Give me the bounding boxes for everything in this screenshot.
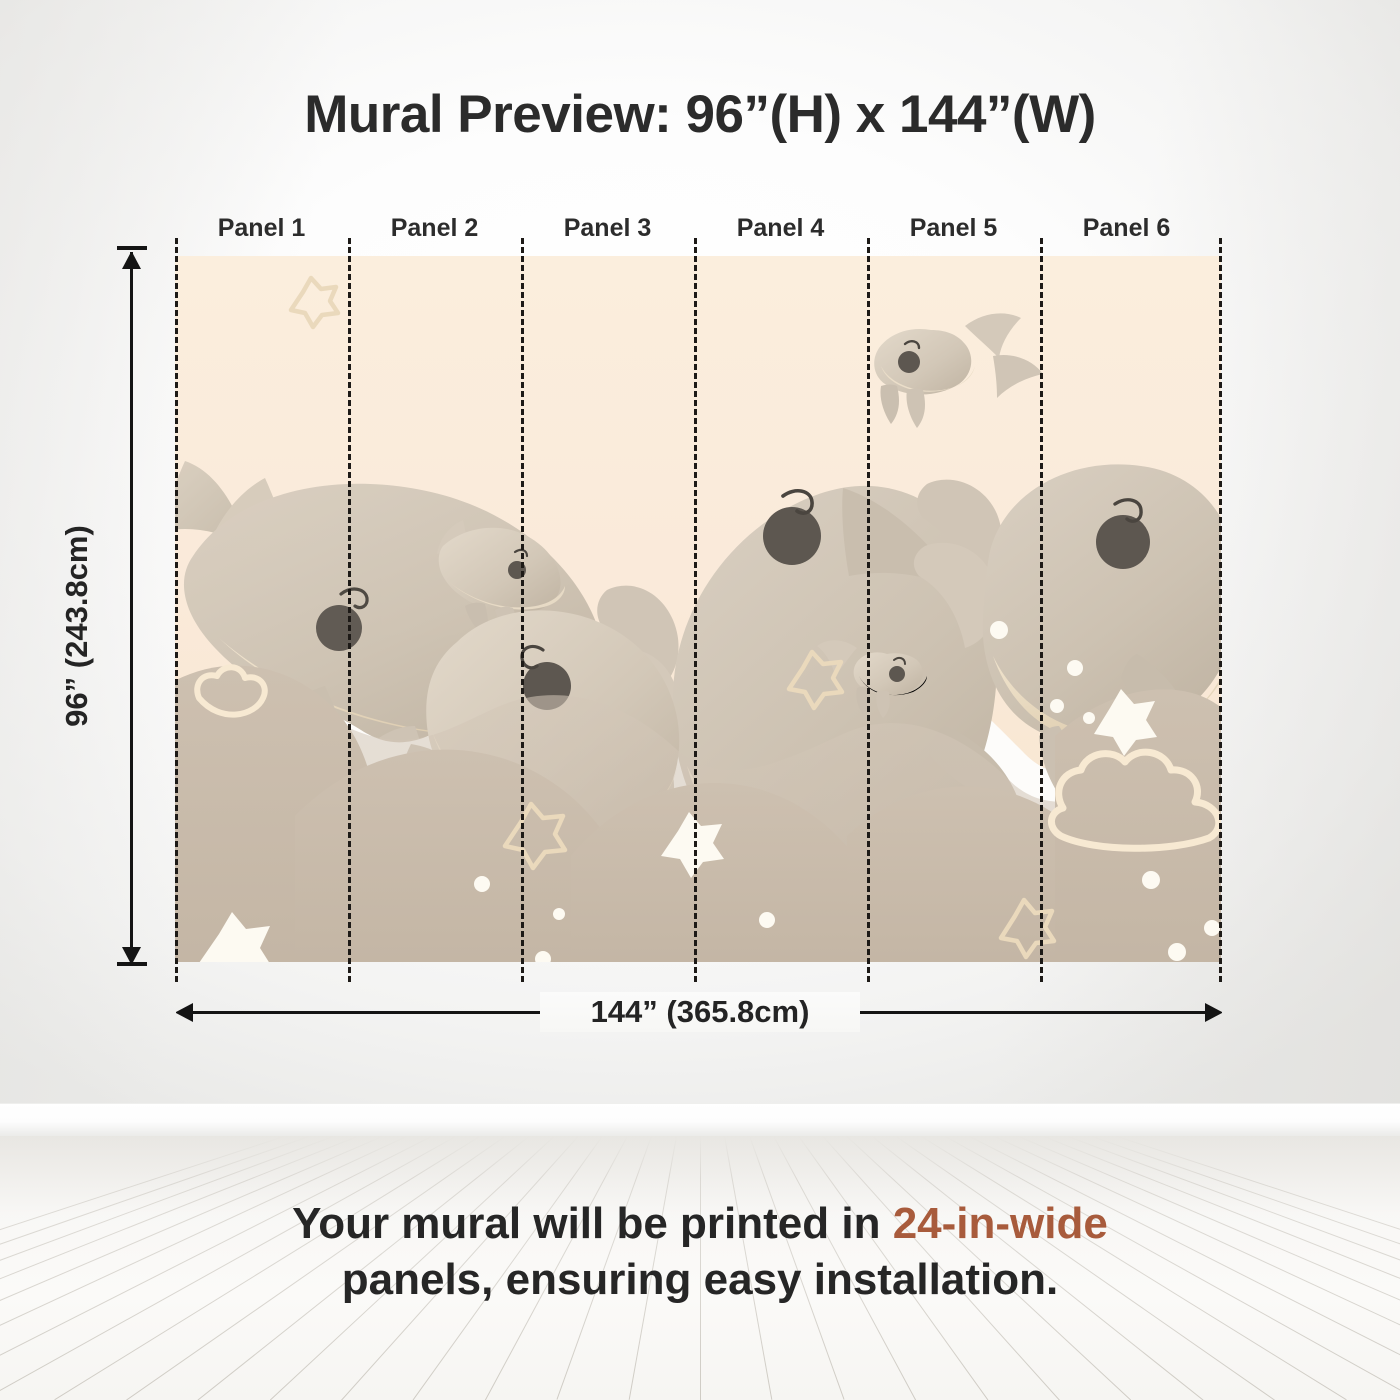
height-arrow-shaft — [130, 252, 133, 964]
panel-label-6: Panel 6 — [1040, 214, 1213, 243]
whale-eye — [889, 666, 905, 682]
width-dimension-label: 144” (365.8cm) — [540, 992, 860, 1032]
cutline-3-4 — [694, 238, 697, 982]
mural-preview-artwork[interactable] — [175, 256, 1221, 962]
panel-label-5: Panel 5 — [867, 214, 1040, 243]
height-tick-top — [117, 246, 147, 250]
caption-line1-before: Your mural will be printed in — [292, 1199, 893, 1248]
whale-eye — [763, 507, 821, 565]
whale-eye — [316, 605, 362, 651]
room-scene: Mural Preview: 96”(H) x 144”(W) Panel 1 … — [0, 0, 1400, 1400]
whale-eye — [1096, 515, 1150, 569]
cutline-2-3 — [521, 238, 524, 982]
baseboard — [0, 1103, 1400, 1136]
panel-label-4: Panel 4 — [694, 214, 867, 243]
cutline-5-6 — [1040, 238, 1043, 982]
panel-label-1: Panel 1 — [175, 214, 348, 243]
caption-line2: panels, ensuring easy installation. — [342, 1255, 1058, 1304]
height-tick-bottom — [117, 962, 147, 966]
width-arrow-right — [1205, 1003, 1222, 1022]
cutline-right-edge — [1219, 238, 1222, 982]
cutline-1-2 — [348, 238, 351, 982]
cutline-left-edge — [175, 238, 178, 982]
caption-text: Your mural will be printed in 24-in-wide… — [130, 1196, 1270, 1309]
panel-label-3: Panel 3 — [521, 214, 694, 243]
cutline-4-5 — [867, 238, 870, 982]
caption-accent: 24-in-wide — [893, 1199, 1108, 1248]
page-title: Mural Preview: 96”(H) x 144”(W) — [0, 84, 1400, 145]
panel-label-2: Panel 2 — [348, 214, 521, 243]
panel-label-row: Panel 1 Panel 2 Panel 3 Panel 4 Panel 5 … — [175, 214, 1221, 252]
height-dimension-label: 96” (243.8cm) — [59, 511, 95, 741]
whale-eye — [898, 351, 920, 373]
